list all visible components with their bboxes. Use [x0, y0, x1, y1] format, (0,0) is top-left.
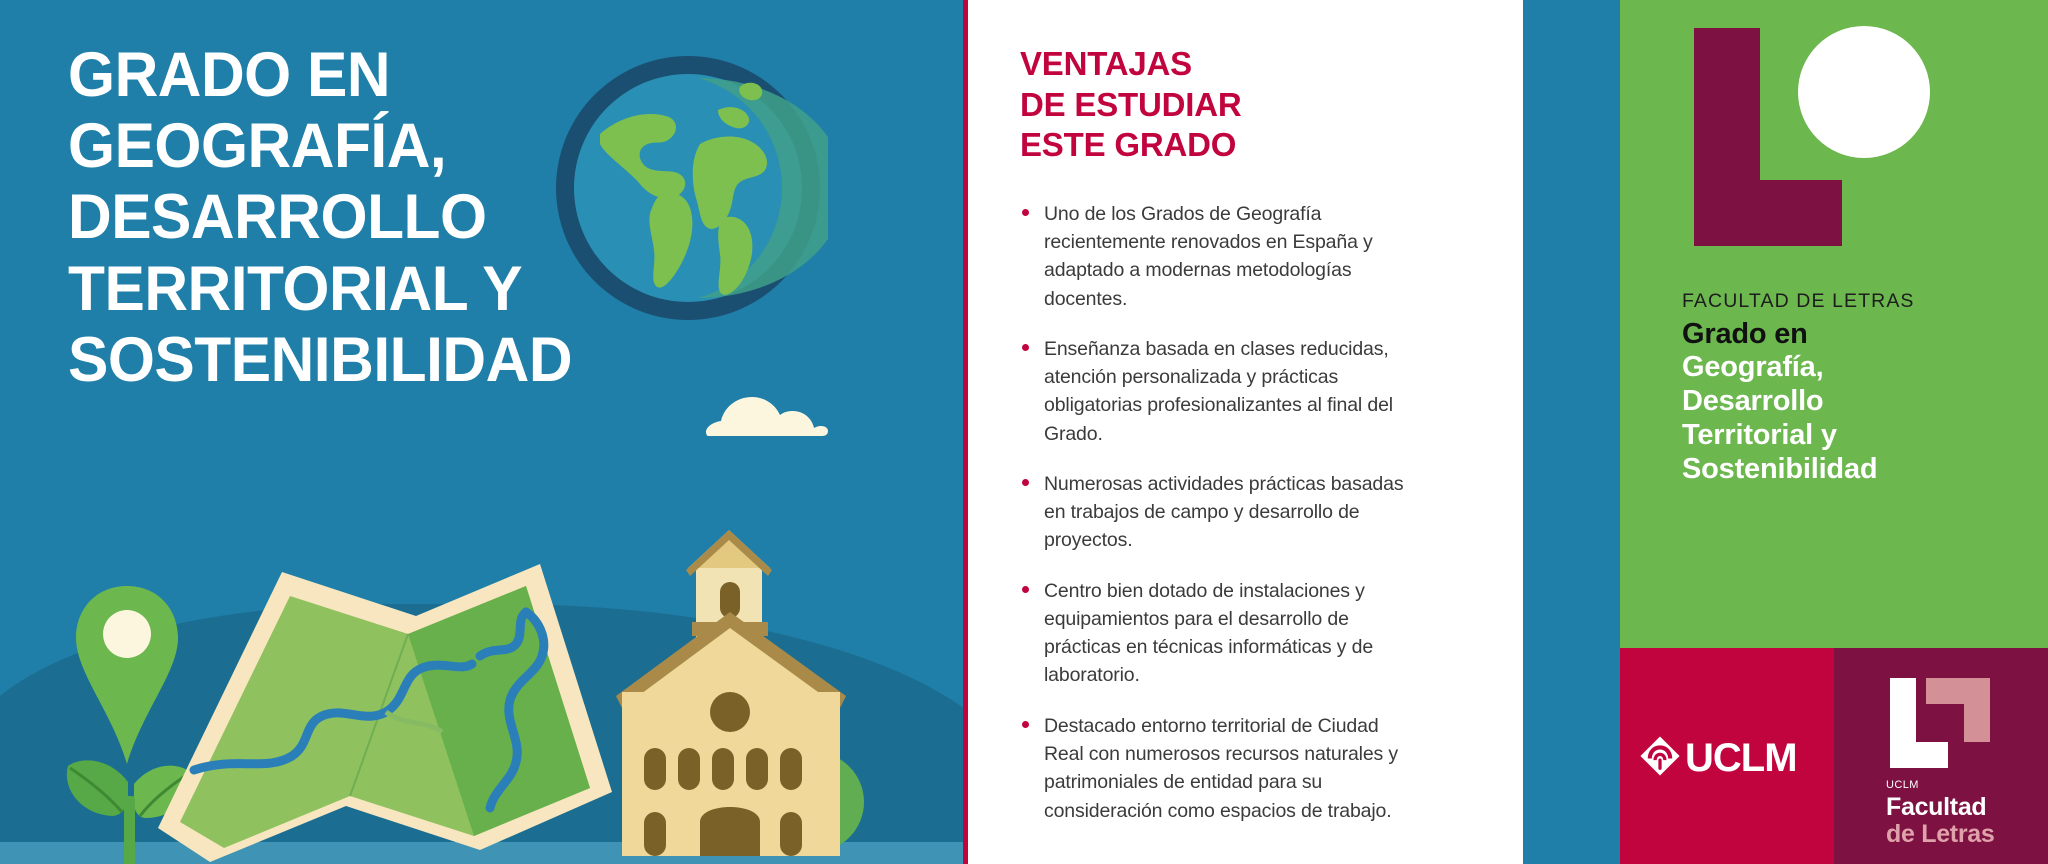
degree-line-4: Sostenibilidad	[1682, 453, 2022, 487]
brand-panel: FACULTAD DE LETRAS Grado en Geografía, D…	[1620, 0, 2048, 864]
advantages-heading-line-2: DE ESTUDIAR	[1020, 85, 1523, 126]
title-line-4: TERRITORIAL Y	[68, 254, 740, 325]
advantages-heading-line-3: ESTE GRADO	[1020, 125, 1523, 166]
faculty-logo-line-1: Facultad	[1886, 794, 2048, 821]
bullet-dot-icon	[1022, 586, 1029, 593]
list-item: Enseñanza basada en clases reducidas, at…	[1020, 335, 1420, 448]
list-item: Centro bien dotado de instalaciones y eq…	[1020, 577, 1420, 690]
list-item: Numerosas actividades prácticas basadas …	[1020, 470, 1420, 555]
list-item: Uno de los Grados de Geografía recientem…	[1020, 200, 1420, 313]
poster-root: GRADO EN GEOGRAFÍA, DESARROLLO TERRITORI…	[0, 0, 2048, 864]
advantages-list: Uno de los Grados de Geografía recientem…	[1020, 200, 1420, 825]
faculty-logo-tiny-label: UCLM	[1886, 780, 2048, 791]
list-item-text: Destacado entorno territorial de Ciudad …	[1044, 715, 1398, 822]
cloud-icon	[700, 388, 830, 443]
list-item: Destacado entorno territorial de Ciudad …	[1020, 712, 1420, 825]
title-line-1: GRADO EN	[68, 40, 740, 111]
uclm-logo-area: UCLM	[1620, 648, 1834, 864]
list-item-text: Centro bien dotado de instalaciones y eq…	[1044, 580, 1373, 687]
degree-prefix: Grado en	[1682, 317, 2022, 351]
faculty-logo-line-2: de Letras	[1886, 821, 2048, 848]
advantages-heading: VENTAJAS DE ESTUDIAR ESTE GRADO	[1020, 44, 1523, 166]
bullet-dot-icon	[1022, 479, 1029, 486]
uclm-logo: UCLM	[1638, 734, 1797, 783]
degree-line-3: Territorial y	[1682, 419, 2022, 453]
faculty-label: FACULTAD DE LETRAS	[1682, 290, 2022, 313]
title-line-3: DESARROLLO	[68, 182, 740, 253]
faculty-logo-area: UCLM Facultad de Letras	[1834, 648, 2048, 864]
faculty-logo-text: UCLM Facultad de Letras	[1886, 780, 2048, 847]
degree-line-2: Desarrollo	[1682, 385, 2022, 419]
page-title: GRADO EN GEOGRAFÍA, DESARROLLO TERRITORI…	[68, 40, 768, 396]
left-hero-panel: GRADO EN GEOGRAFÍA, DESARROLLO TERRITORI…	[0, 0, 963, 864]
list-item-text: Uno de los Grados de Geografía recientem…	[1044, 203, 1373, 310]
list-item-text: Enseñanza basada en clases reducidas, at…	[1044, 338, 1393, 445]
degree-block: FACULTAD DE LETRAS Grado en Geografía, D…	[1682, 290, 2022, 487]
uclm-diamond-icon	[1638, 734, 1682, 783]
title-line-2: GEOGRAFÍA,	[68, 111, 740, 182]
church-building-icon	[600, 500, 880, 864]
bullet-dot-icon	[1022, 209, 1029, 216]
list-item-text: Numerosas actividades prácticas basadas …	[1044, 473, 1403, 552]
degree-line-1: Geografía,	[1682, 351, 2022, 385]
bullet-dot-icon	[1022, 721, 1029, 728]
letras-l-circle-logo	[1682, 20, 1942, 270]
title-line-5: SOSTENIBILIDAD	[68, 325, 740, 396]
advantages-heading-line-1: VENTAJAS	[1020, 44, 1523, 85]
teal-divider-band	[1523, 0, 1620, 864]
bullet-dot-icon	[1022, 344, 1029, 351]
letras-l7-mark	[1886, 676, 1996, 774]
folded-map-icon	[150, 560, 620, 864]
brand-logo-bar: UCLM UCLM Facultad de Letras	[1620, 648, 2048, 864]
brand-green-area: FACULTAD DE LETRAS Grado en Geografía, D…	[1620, 0, 2048, 648]
advantages-panel: VENTAJAS DE ESTUDIAR ESTE GRADO Uno de l…	[963, 0, 1523, 864]
uclm-wordmark: UCLM	[1685, 736, 1797, 781]
